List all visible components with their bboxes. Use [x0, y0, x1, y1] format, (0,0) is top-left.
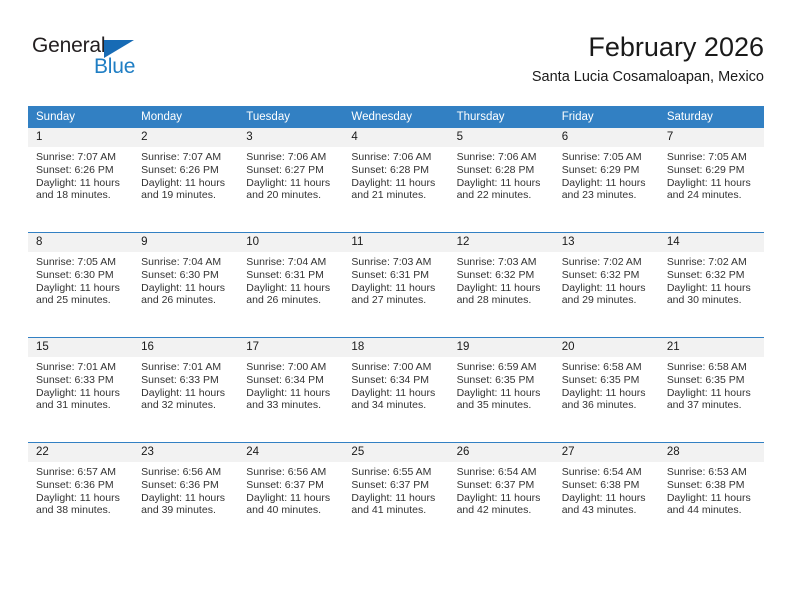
sunset-text: Sunset: 6:38 PM [667, 479, 758, 492]
daylight-text-line1: Daylight: 11 hours [562, 492, 653, 505]
daylight-text-line1: Daylight: 11 hours [667, 387, 758, 400]
day-number: 19 [449, 338, 554, 357]
weekday-header-monday: Monday [133, 106, 238, 128]
sunrise-text: Sunrise: 6:54 AM [457, 466, 548, 479]
daylight-text-line2: and 30 minutes. [667, 294, 758, 307]
day-number: 24 [238, 443, 343, 462]
daylight-text-line2: and 25 minutes. [36, 294, 127, 307]
sunrise-text: Sunrise: 7:05 AM [562, 151, 653, 164]
daylight-text-line1: Daylight: 11 hours [457, 177, 548, 190]
week-row: 1 Sunrise: 7:07 AM Sunset: 6:26 PM Dayli… [28, 128, 764, 233]
sunset-text: Sunset: 6:29 PM [562, 164, 653, 177]
sunset-text: Sunset: 6:32 PM [667, 269, 758, 282]
day-cell[interactable]: 9 Sunrise: 7:04 AM Sunset: 6:30 PM Dayli… [133, 233, 238, 338]
day-cell[interactable]: 7 Sunrise: 7:05 AM Sunset: 6:29 PM Dayli… [659, 128, 764, 233]
daylight-text-line2: and 39 minutes. [141, 504, 232, 517]
day-details: Sunrise: 7:05 AM Sunset: 6:29 PM Dayligh… [659, 147, 764, 202]
day-number: 12 [449, 233, 554, 252]
sunset-text: Sunset: 6:26 PM [36, 164, 127, 177]
day-number: 1 [28, 128, 133, 147]
day-cell[interactable]: 25 Sunrise: 6:55 AM Sunset: 6:37 PM Dayl… [343, 443, 448, 548]
daylight-text-line2: and 33 minutes. [246, 399, 337, 412]
daylight-text-line2: and 23 minutes. [562, 189, 653, 202]
day-number: 16 [133, 338, 238, 357]
daylight-text-line2: and 42 minutes. [457, 504, 548, 517]
day-details: Sunrise: 7:04 AM Sunset: 6:31 PM Dayligh… [238, 252, 343, 307]
day-cell[interactable]: 11 Sunrise: 7:03 AM Sunset: 6:31 PM Dayl… [343, 233, 448, 338]
daylight-text-line2: and 38 minutes. [36, 504, 127, 517]
day-details: Sunrise: 6:53 AM Sunset: 6:38 PM Dayligh… [659, 462, 764, 517]
sunset-text: Sunset: 6:36 PM [36, 479, 127, 492]
day-cell[interactable]: 2 Sunrise: 7:07 AM Sunset: 6:26 PM Dayli… [133, 128, 238, 233]
day-details: Sunrise: 7:02 AM Sunset: 6:32 PM Dayligh… [659, 252, 764, 307]
weekday-header-saturday: Saturday [659, 106, 764, 128]
daylight-text-line1: Daylight: 11 hours [246, 492, 337, 505]
daylight-text-line2: and 20 minutes. [246, 189, 337, 202]
day-number: 6 [554, 128, 659, 147]
sunset-text: Sunset: 6:38 PM [562, 479, 653, 492]
day-details: Sunrise: 6:55 AM Sunset: 6:37 PM Dayligh… [343, 462, 448, 517]
daylight-text-line1: Daylight: 11 hours [246, 177, 337, 190]
sunrise-text: Sunrise: 6:58 AM [562, 361, 653, 374]
daylight-text-line1: Daylight: 11 hours [36, 387, 127, 400]
day-cell[interactable]: 14 Sunrise: 7:02 AM Sunset: 6:32 PM Dayl… [659, 233, 764, 338]
sunset-text: Sunset: 6:35 PM [562, 374, 653, 387]
daylight-text-line2: and 41 minutes. [351, 504, 442, 517]
day-number: 5 [449, 128, 554, 147]
day-cell[interactable]: 17 Sunrise: 7:00 AM Sunset: 6:34 PM Dayl… [238, 338, 343, 443]
daylight-text-line2: and 37 minutes. [667, 399, 758, 412]
sunset-text: Sunset: 6:34 PM [351, 374, 442, 387]
page-title: February 2026 [532, 30, 764, 64]
sunset-text: Sunset: 6:36 PM [141, 479, 232, 492]
sunrise-text: Sunrise: 7:01 AM [141, 361, 232, 374]
sunset-text: Sunset: 6:27 PM [246, 164, 337, 177]
weekday-header-friday: Friday [554, 106, 659, 128]
day-cell[interactable]: 16 Sunrise: 7:01 AM Sunset: 6:33 PM Dayl… [133, 338, 238, 443]
day-details: Sunrise: 7:05 AM Sunset: 6:30 PM Dayligh… [28, 252, 133, 307]
daylight-text-line2: and 26 minutes. [141, 294, 232, 307]
daylight-text-line1: Daylight: 11 hours [351, 387, 442, 400]
day-cell[interactable]: 18 Sunrise: 7:00 AM Sunset: 6:34 PM Dayl… [343, 338, 448, 443]
weekday-header-sunday: Sunday [28, 106, 133, 128]
daylight-text-line1: Daylight: 11 hours [457, 282, 548, 295]
daylight-text-line1: Daylight: 11 hours [36, 282, 127, 295]
calendar-page: General Blue February 2026 Santa Lucia C… [0, 0, 792, 612]
daylight-text-line1: Daylight: 11 hours [246, 282, 337, 295]
day-cell[interactable]: 26 Sunrise: 6:54 AM Sunset: 6:37 PM Dayl… [449, 443, 554, 548]
day-details: Sunrise: 7:04 AM Sunset: 6:30 PM Dayligh… [133, 252, 238, 307]
daylight-text-line2: and 40 minutes. [246, 504, 337, 517]
daylight-text-line1: Daylight: 11 hours [141, 387, 232, 400]
daylight-text-line1: Daylight: 11 hours [562, 387, 653, 400]
day-cell[interactable]: 6 Sunrise: 7:05 AM Sunset: 6:29 PM Dayli… [554, 128, 659, 233]
daylight-text-line1: Daylight: 11 hours [141, 492, 232, 505]
calendar-grid: Sunday Monday Tuesday Wednesday Thursday… [28, 106, 764, 547]
general-blue-logo[interactable]: General Blue [32, 34, 232, 90]
sunset-text: Sunset: 6:35 PM [667, 374, 758, 387]
day-cell[interactable]: 12 Sunrise: 7:03 AM Sunset: 6:32 PM Dayl… [449, 233, 554, 338]
sunset-text: Sunset: 6:37 PM [246, 479, 337, 492]
daylight-text-line1: Daylight: 11 hours [351, 282, 442, 295]
day-cell[interactable]: 8 Sunrise: 7:05 AM Sunset: 6:30 PM Dayli… [28, 233, 133, 338]
location-subtitle: Santa Lucia Cosamaloapan, Mexico [532, 66, 764, 88]
daylight-text-line2: and 44 minutes. [667, 504, 758, 517]
weekday-header-wednesday: Wednesday [343, 106, 448, 128]
day-number: 11 [343, 233, 448, 252]
day-cell[interactable]: 15 Sunrise: 7:01 AM Sunset: 6:33 PM Dayl… [28, 338, 133, 443]
sunset-text: Sunset: 6:31 PM [246, 269, 337, 282]
day-number: 23 [133, 443, 238, 462]
day-details: Sunrise: 6:56 AM Sunset: 6:36 PM Dayligh… [133, 462, 238, 517]
sunset-text: Sunset: 6:37 PM [457, 479, 548, 492]
day-number: 28 [659, 443, 764, 462]
day-number: 2 [133, 128, 238, 147]
daylight-text-line1: Daylight: 11 hours [667, 282, 758, 295]
logo-text-blue: Blue [94, 55, 135, 79]
daylight-text-line2: and 27 minutes. [351, 294, 442, 307]
sunrise-text: Sunrise: 6:55 AM [351, 466, 442, 479]
sunset-text: Sunset: 6:26 PM [141, 164, 232, 177]
day-number: 22 [28, 443, 133, 462]
daylight-text-line1: Daylight: 11 hours [457, 492, 548, 505]
day-details: Sunrise: 7:06 AM Sunset: 6:28 PM Dayligh… [343, 147, 448, 202]
day-details: Sunrise: 7:03 AM Sunset: 6:31 PM Dayligh… [343, 252, 448, 307]
sunset-text: Sunset: 6:28 PM [457, 164, 548, 177]
daylight-text-line2: and 36 minutes. [562, 399, 653, 412]
daylight-text-line1: Daylight: 11 hours [36, 492, 127, 505]
day-details: Sunrise: 7:02 AM Sunset: 6:32 PM Dayligh… [554, 252, 659, 307]
sunrise-text: Sunrise: 7:03 AM [351, 256, 442, 269]
day-details: Sunrise: 6:54 AM Sunset: 6:38 PM Dayligh… [554, 462, 659, 517]
weekday-header-row: Sunday Monday Tuesday Wednesday Thursday… [28, 106, 764, 128]
day-number: 20 [554, 338, 659, 357]
day-number: 14 [659, 233, 764, 252]
daylight-text-line1: Daylight: 11 hours [351, 492, 442, 505]
day-number: 8 [28, 233, 133, 252]
day-details: Sunrise: 7:03 AM Sunset: 6:32 PM Dayligh… [449, 252, 554, 307]
daylight-text-line1: Daylight: 11 hours [457, 387, 548, 400]
day-number: 27 [554, 443, 659, 462]
day-details: Sunrise: 7:01 AM Sunset: 6:33 PM Dayligh… [133, 357, 238, 412]
day-details: Sunrise: 7:06 AM Sunset: 6:28 PM Dayligh… [449, 147, 554, 202]
day-details: Sunrise: 7:07 AM Sunset: 6:26 PM Dayligh… [28, 147, 133, 202]
day-number: 3 [238, 128, 343, 147]
sunset-text: Sunset: 6:33 PM [141, 374, 232, 387]
sunrise-text: Sunrise: 7:00 AM [351, 361, 442, 374]
sunrise-text: Sunrise: 7:04 AM [141, 256, 232, 269]
sunrise-text: Sunrise: 7:03 AM [457, 256, 548, 269]
daylight-text-line2: and 29 minutes. [562, 294, 653, 307]
day-details: Sunrise: 7:00 AM Sunset: 6:34 PM Dayligh… [238, 357, 343, 412]
day-number: 10 [238, 233, 343, 252]
day-cell[interactable]: 1 Sunrise: 7:07 AM Sunset: 6:26 PM Dayli… [28, 128, 133, 233]
day-details: Sunrise: 6:54 AM Sunset: 6:37 PM Dayligh… [449, 462, 554, 517]
day-cell[interactable]: 27 Sunrise: 6:54 AM Sunset: 6:38 PM Dayl… [554, 443, 659, 548]
daylight-text-line2: and 28 minutes. [457, 294, 548, 307]
day-details: Sunrise: 7:06 AM Sunset: 6:27 PM Dayligh… [238, 147, 343, 202]
day-cell[interactable]: 20 Sunrise: 6:58 AM Sunset: 6:35 PM Dayl… [554, 338, 659, 443]
week-row: 8 Sunrise: 7:05 AM Sunset: 6:30 PM Dayli… [28, 233, 764, 338]
sunrise-text: Sunrise: 7:00 AM [246, 361, 337, 374]
sunrise-text: Sunrise: 7:07 AM [141, 151, 232, 164]
day-cell[interactable]: 3 Sunrise: 7:06 AM Sunset: 6:27 PM Dayli… [238, 128, 343, 233]
title-block: February 2026 Santa Lucia Cosamaloapan, … [532, 30, 764, 88]
day-number: 26 [449, 443, 554, 462]
sunrise-text: Sunrise: 7:05 AM [667, 151, 758, 164]
daylight-text-line1: Daylight: 11 hours [351, 177, 442, 190]
day-details: Sunrise: 7:01 AM Sunset: 6:33 PM Dayligh… [28, 357, 133, 412]
daylight-text-line2: and 22 minutes. [457, 189, 548, 202]
sunset-text: Sunset: 6:28 PM [351, 164, 442, 177]
daylight-text-line2: and 21 minutes. [351, 189, 442, 202]
sunrise-text: Sunrise: 6:56 AM [141, 466, 232, 479]
week-row: 22 Sunrise: 6:57 AM Sunset: 6:36 PM Dayl… [28, 443, 764, 548]
day-cell[interactable]: 23 Sunrise: 6:56 AM Sunset: 6:36 PM Dayl… [133, 443, 238, 548]
day-cell[interactable]: 19 Sunrise: 6:59 AM Sunset: 6:35 PM Dayl… [449, 338, 554, 443]
daylight-text-line2: and 32 minutes. [141, 399, 232, 412]
daylight-text-line2: and 31 minutes. [36, 399, 127, 412]
day-number: 18 [343, 338, 448, 357]
day-number: 21 [659, 338, 764, 357]
daylight-text-line1: Daylight: 11 hours [246, 387, 337, 400]
daylight-text-line1: Daylight: 11 hours [141, 177, 232, 190]
sunset-text: Sunset: 6:35 PM [457, 374, 548, 387]
sunrise-text: Sunrise: 7:05 AM [36, 256, 127, 269]
day-details: Sunrise: 6:58 AM Sunset: 6:35 PM Dayligh… [659, 357, 764, 412]
day-details: Sunrise: 6:58 AM Sunset: 6:35 PM Dayligh… [554, 357, 659, 412]
week-row: 15 Sunrise: 7:01 AM Sunset: 6:33 PM Dayl… [28, 338, 764, 443]
day-cell[interactable]: 28 Sunrise: 6:53 AM Sunset: 6:38 PM Dayl… [659, 443, 764, 548]
sunrise-text: Sunrise: 6:53 AM [667, 466, 758, 479]
daylight-text-line2: and 43 minutes. [562, 504, 653, 517]
sunset-text: Sunset: 6:32 PM [562, 269, 653, 282]
sunset-text: Sunset: 6:31 PM [351, 269, 442, 282]
daylight-text-line2: and 19 minutes. [141, 189, 232, 202]
daylight-text-line1: Daylight: 11 hours [562, 177, 653, 190]
sunset-text: Sunset: 6:30 PM [36, 269, 127, 282]
page-header: General Blue February 2026 Santa Lucia C… [28, 30, 764, 98]
sunset-text: Sunset: 6:29 PM [667, 164, 758, 177]
sunrise-text: Sunrise: 7:02 AM [667, 256, 758, 269]
sunrise-text: Sunrise: 6:57 AM [36, 466, 127, 479]
sunset-text: Sunset: 6:34 PM [246, 374, 337, 387]
daylight-text-line2: and 34 minutes. [351, 399, 442, 412]
daylight-text-line1: Daylight: 11 hours [36, 177, 127, 190]
day-number: 7 [659, 128, 764, 147]
sunrise-text: Sunrise: 7:06 AM [351, 151, 442, 164]
day-details: Sunrise: 6:56 AM Sunset: 6:37 PM Dayligh… [238, 462, 343, 517]
sunrise-text: Sunrise: 7:07 AM [36, 151, 127, 164]
day-cell[interactable]: 10 Sunrise: 7:04 AM Sunset: 6:31 PM Dayl… [238, 233, 343, 338]
day-cell[interactable]: 22 Sunrise: 6:57 AM Sunset: 6:36 PM Dayl… [28, 443, 133, 548]
daylight-text-line1: Daylight: 11 hours [667, 492, 758, 505]
sunset-text: Sunset: 6:30 PM [141, 269, 232, 282]
day-details: Sunrise: 7:00 AM Sunset: 6:34 PM Dayligh… [343, 357, 448, 412]
sunset-text: Sunset: 6:33 PM [36, 374, 127, 387]
daylight-text-line2: and 26 minutes. [246, 294, 337, 307]
sunset-text: Sunset: 6:32 PM [457, 269, 548, 282]
weekday-header-tuesday: Tuesday [238, 106, 343, 128]
sunrise-text: Sunrise: 7:06 AM [246, 151, 337, 164]
sunset-text: Sunset: 6:37 PM [351, 479, 442, 492]
day-details: Sunrise: 6:59 AM Sunset: 6:35 PM Dayligh… [449, 357, 554, 412]
daylight-text-line2: and 18 minutes. [36, 189, 127, 202]
daylight-text-line1: Daylight: 11 hours [141, 282, 232, 295]
day-number: 9 [133, 233, 238, 252]
sunrise-text: Sunrise: 6:56 AM [246, 466, 337, 479]
daylight-text-line2: and 24 minutes. [667, 189, 758, 202]
day-cell[interactable]: 4 Sunrise: 7:06 AM Sunset: 6:28 PM Dayli… [343, 128, 448, 233]
weekday-header-thursday: Thursday [449, 106, 554, 128]
sunrise-text: Sunrise: 7:01 AM [36, 361, 127, 374]
sunrise-text: Sunrise: 6:58 AM [667, 361, 758, 374]
day-details: Sunrise: 7:07 AM Sunset: 6:26 PM Dayligh… [133, 147, 238, 202]
day-number: 13 [554, 233, 659, 252]
sunrise-text: Sunrise: 6:54 AM [562, 466, 653, 479]
day-details: Sunrise: 7:05 AM Sunset: 6:29 PM Dayligh… [554, 147, 659, 202]
day-cell[interactable]: 24 Sunrise: 6:56 AM Sunset: 6:37 PM Dayl… [238, 443, 343, 548]
day-cell[interactable]: 21 Sunrise: 6:58 AM Sunset: 6:35 PM Dayl… [659, 338, 764, 443]
sunrise-text: Sunrise: 7:04 AM [246, 256, 337, 269]
day-number: 25 [343, 443, 448, 462]
daylight-text-line2: and 35 minutes. [457, 399, 548, 412]
day-number: 15 [28, 338, 133, 357]
day-cell[interactable]: 13 Sunrise: 7:02 AM Sunset: 6:32 PM Dayl… [554, 233, 659, 338]
daylight-text-line1: Daylight: 11 hours [562, 282, 653, 295]
sunrise-text: Sunrise: 7:06 AM [457, 151, 548, 164]
day-number: 4 [343, 128, 448, 147]
sunrise-text: Sunrise: 6:59 AM [457, 361, 548, 374]
day-details: Sunrise: 6:57 AM Sunset: 6:36 PM Dayligh… [28, 462, 133, 517]
day-number: 17 [238, 338, 343, 357]
daylight-text-line1: Daylight: 11 hours [667, 177, 758, 190]
sunrise-text: Sunrise: 7:02 AM [562, 256, 653, 269]
day-cell[interactable]: 5 Sunrise: 7:06 AM Sunset: 6:28 PM Dayli… [449, 128, 554, 233]
